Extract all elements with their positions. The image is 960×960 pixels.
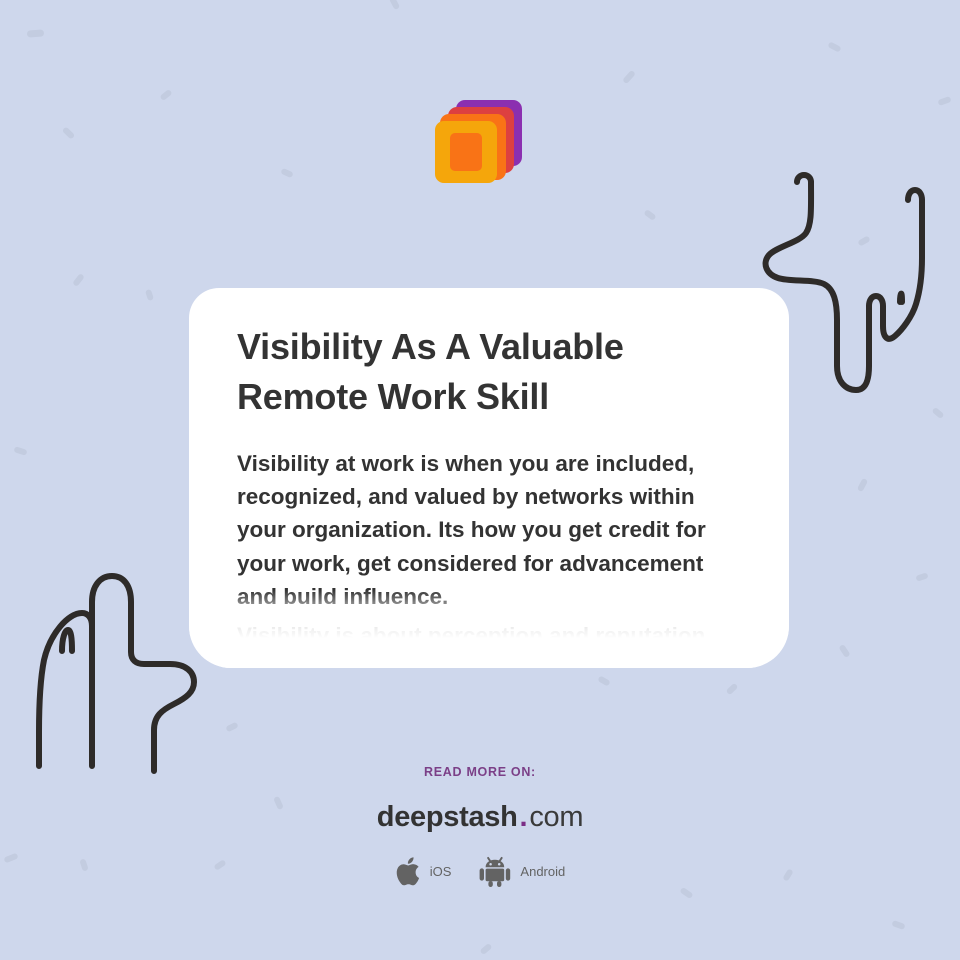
ios-label: iOS bbox=[430, 864, 452, 879]
confetti-dash bbox=[225, 722, 238, 733]
confetti-dash bbox=[389, 0, 400, 10]
confetti-dash bbox=[838, 644, 850, 658]
android-store-badge[interactable]: Android bbox=[479, 856, 565, 887]
confetti-dash bbox=[857, 235, 870, 246]
confetti-dash bbox=[931, 407, 944, 419]
idea-card-content: Visibility As A Valuable Remote Work Ski… bbox=[189, 288, 789, 652]
confetti-dash bbox=[937, 96, 951, 106]
wordmark-dot: . bbox=[520, 801, 528, 833]
pointing-hand-up-icon bbox=[18, 556, 213, 781]
confetti-dash bbox=[145, 289, 154, 301]
confetti-dash bbox=[643, 209, 656, 221]
ios-store-badge[interactable]: iOS bbox=[395, 856, 452, 887]
confetti-dash bbox=[159, 89, 172, 101]
confetti-dash bbox=[679, 887, 693, 899]
read-more-label: READ MORE ON: bbox=[0, 765, 960, 779]
confetti-dash bbox=[726, 683, 739, 696]
deepstash-logo bbox=[424, 98, 524, 202]
confetti-dash bbox=[72, 273, 85, 287]
idea-body-text: Visibility at work is when you are inclu… bbox=[237, 447, 741, 612]
confetti-dash bbox=[915, 572, 928, 581]
confetti-dash bbox=[62, 126, 76, 139]
confetti-dash bbox=[891, 920, 905, 930]
poster-canvas: Visibility As A Valuable Remote Work Ski… bbox=[0, 0, 960, 960]
confetti-dash bbox=[13, 446, 27, 456]
confetti-dash bbox=[622, 70, 636, 84]
idea-body-text-truncated: Visibility is about perception and reput… bbox=[237, 619, 741, 652]
confetti-dash bbox=[597, 675, 610, 686]
confetti-dash bbox=[27, 29, 44, 37]
idea-card: Visibility As A Valuable Remote Work Ski… bbox=[189, 288, 789, 668]
android-label: Android bbox=[520, 864, 565, 879]
confetti-dash bbox=[479, 943, 492, 955]
store-badges: iOS bbox=[0, 856, 960, 887]
confetti-dash bbox=[280, 168, 293, 178]
footer: READ MORE ON: deepstash.com iOS bbox=[0, 765, 960, 887]
apple-icon bbox=[395, 856, 421, 887]
wordmark-tld: com bbox=[529, 801, 583, 833]
android-icon bbox=[479, 856, 511, 887]
confetti-dash bbox=[857, 478, 868, 492]
page-title: Visibility As A Valuable Remote Work Ski… bbox=[237, 322, 741, 421]
confetti-dash bbox=[827, 41, 841, 52]
deepstash-wordmark[interactable]: deepstash.com bbox=[0, 801, 960, 834]
wordmark-brand: deepstash bbox=[377, 801, 518, 833]
